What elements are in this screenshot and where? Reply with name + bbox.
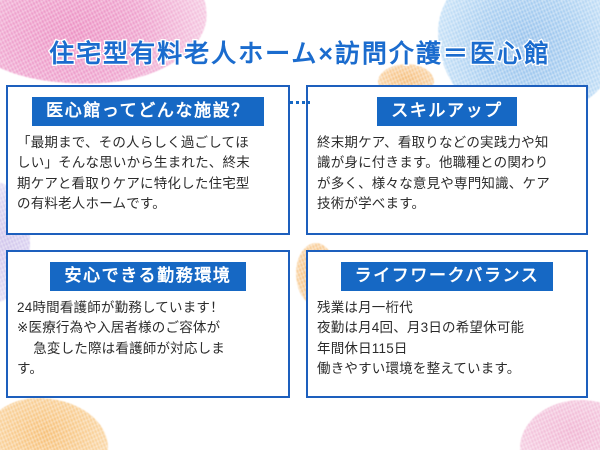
card-skillup-body: 終末期ケア、看取りなどの実践力や知 識が身に付きます。他職種との関わり が多く、… bbox=[308, 133, 586, 215]
poster-canvas: 住宅型有料老人ホーム×訪問介護＝医心館 医心館ってどんな施設？ 「最期まで、その… bbox=[0, 0, 600, 450]
card-work-environment-line: 24時間看護師が勤務しています！ bbox=[17, 298, 278, 319]
card-life-work-balance-line: 働きやすい環境を整えています。 bbox=[317, 359, 576, 380]
dotted-connector bbox=[290, 101, 310, 104]
card-life-work-balance-body: 残業は月一桁代 夜勤は月4回、月3日の希望休可能 年間休日115日 働きやすい環… bbox=[308, 298, 586, 380]
card-work-environment-heading: 安心できる勤務環境 bbox=[50, 262, 245, 291]
card-facility-heading: 医心館ってどんな施設？ bbox=[32, 97, 264, 126]
card-skillup-line: が多く、様々な意見や専門知識、ケア bbox=[317, 174, 576, 195]
card-skillup-heading: スキルアップ bbox=[377, 97, 517, 126]
card-work-environment-body: 24時間看護師が勤務しています！ ※医療行為や入居者様のご容体が 急変した際は看… bbox=[8, 298, 288, 380]
card-work-environment: 安心できる勤務環境 24時間看護師が勤務しています！ ※医療行為や入居者様のご容… bbox=[6, 250, 290, 398]
orange-crayon-blob-bottom-left-icon bbox=[0, 398, 108, 450]
card-facility-line: の有料老人ホームです。 bbox=[17, 194, 278, 215]
card-facility: 医心館ってどんな施設？ 「最期まで、その人らしく過ごしてほ しい」そんな思いから… bbox=[6, 85, 290, 235]
card-facility-line: 「最期まで、その人らしく過ごしてほ bbox=[17, 133, 278, 154]
card-life-work-balance-heading: ライフワークバランス bbox=[341, 262, 554, 291]
card-facility-body: 「最期まで、その人らしく過ごしてほ しい」そんな思いから生まれた、終末 期ケアと… bbox=[8, 133, 288, 215]
card-life-work-balance: ライフワークバランス 残業は月一桁代 夜勤は月4回、月3日の希望休可能 年間休日… bbox=[306, 250, 588, 398]
poster-title: 住宅型有料老人ホーム×訪問介護＝医心館 bbox=[0, 34, 600, 70]
card-work-environment-line: ※医療行為や入居者様のご容体が bbox=[17, 318, 278, 339]
card-facility-line: 期ケアと看取りケアに特化した住宅型 bbox=[17, 174, 278, 195]
card-facility-line: しい」そんな思いから生まれた、終末 bbox=[17, 153, 278, 174]
card-life-work-balance-line: 夜勤は月4回、月3日の希望休可能 bbox=[317, 318, 576, 339]
pink-crayon-blob-bottom-right-icon bbox=[520, 400, 600, 450]
card-skillup: スキルアップ 終末期ケア、看取りなどの実践力や知 識が身に付きます。他職種との関… bbox=[306, 85, 588, 235]
card-skillup-line: 識が身に付きます。他職種との関わり bbox=[317, 153, 576, 174]
card-life-work-balance-line: 残業は月一桁代 bbox=[317, 298, 576, 319]
card-skillup-line: 技術が学べます。 bbox=[317, 194, 576, 215]
card-work-environment-line: 急変した際は看護師が対応しま bbox=[17, 339, 278, 360]
card-life-work-balance-line: 年間休日115日 bbox=[317, 339, 576, 360]
card-skillup-line: 終末期ケア、看取りなどの実践力や知 bbox=[317, 133, 576, 154]
card-work-environment-line: す。 bbox=[17, 359, 278, 380]
